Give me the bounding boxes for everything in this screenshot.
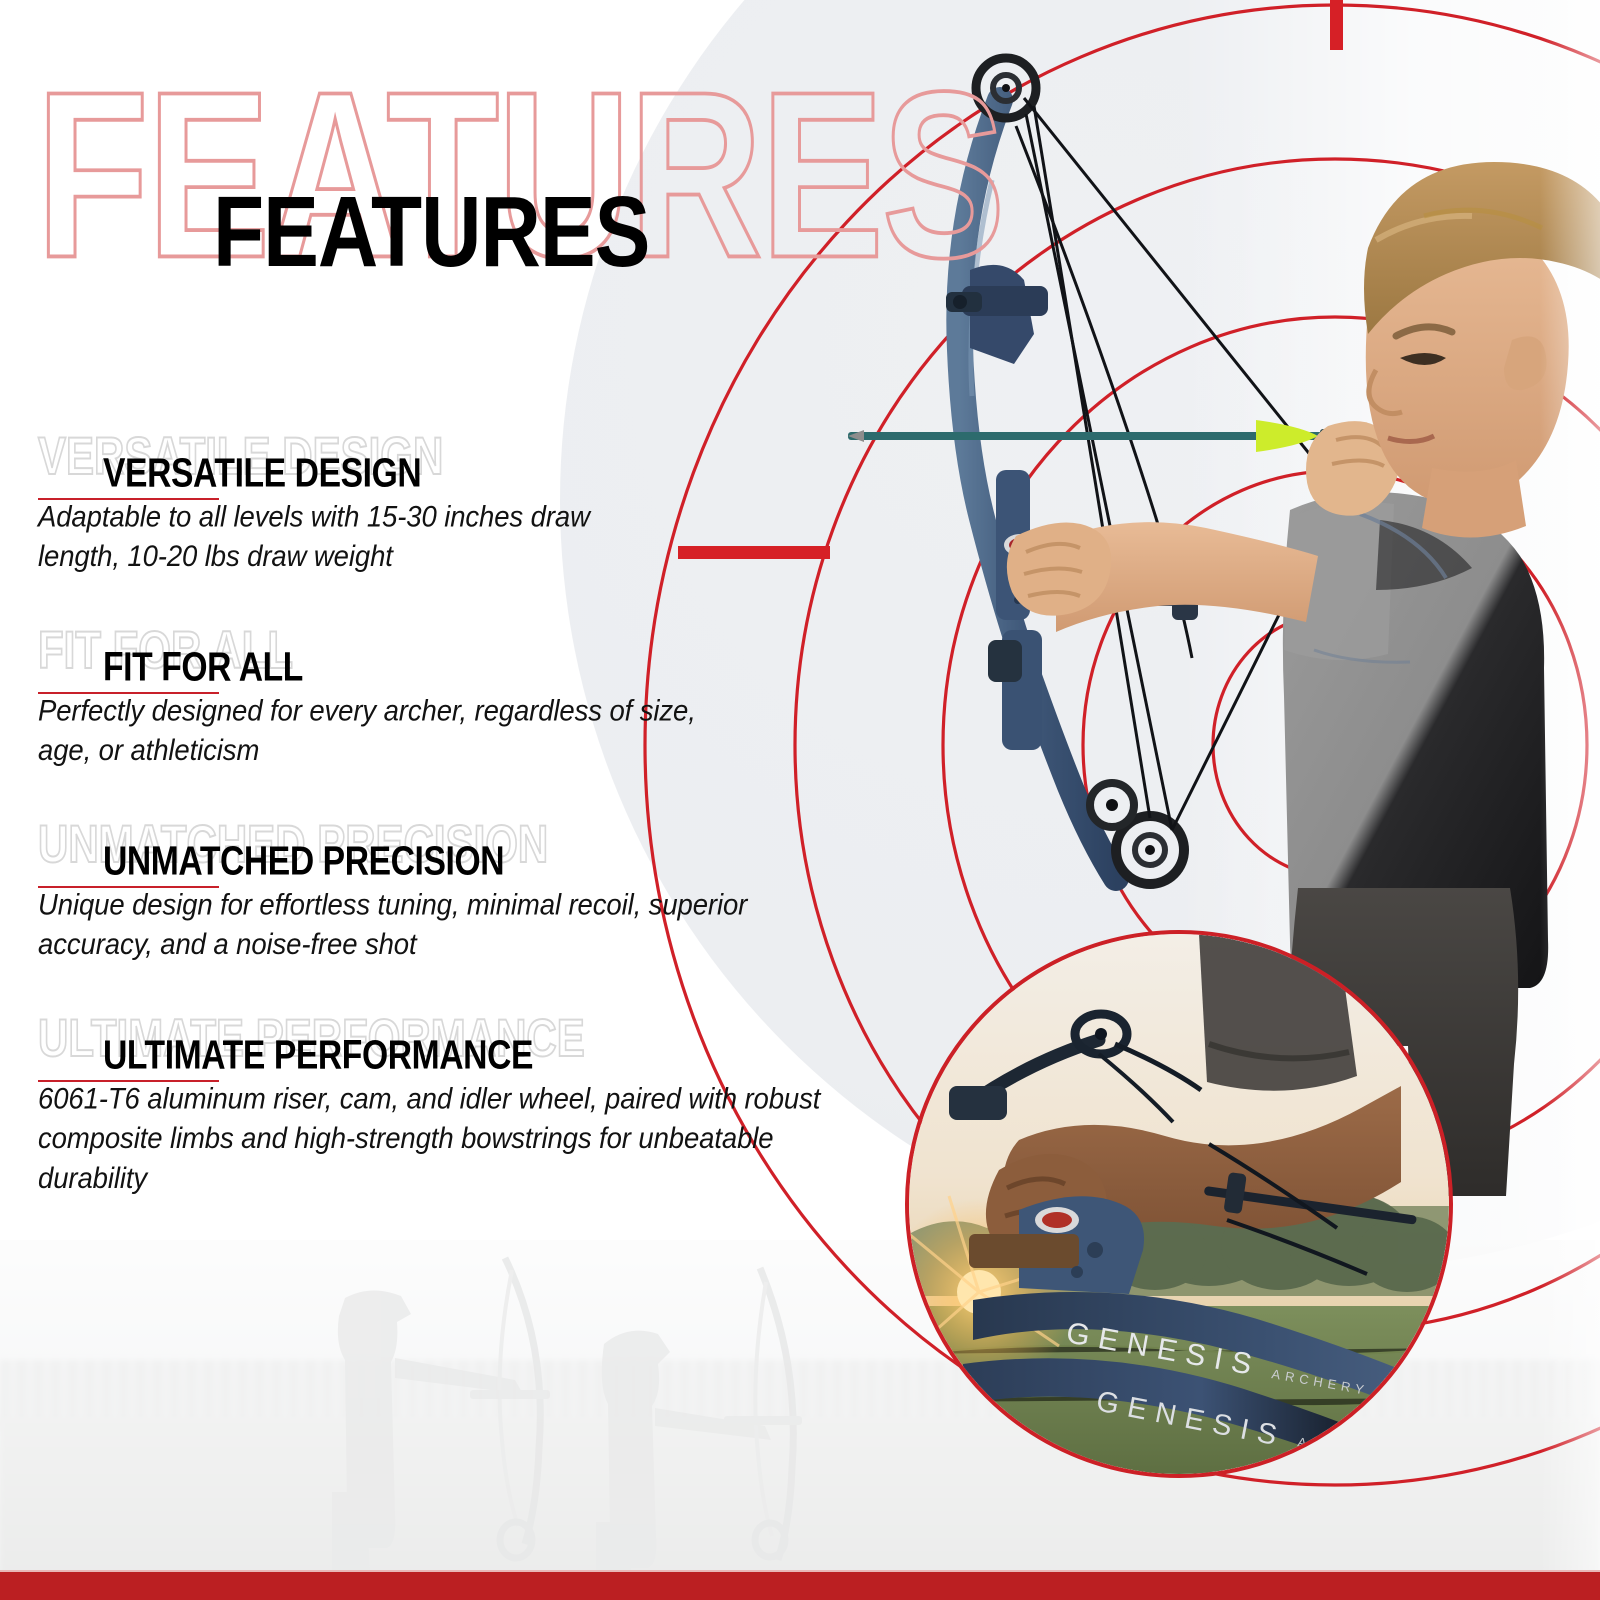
crosshair-tick-vertical [1330, 0, 1343, 50]
feature-title: ULTIMATE PERFORMANCE [103, 1034, 533, 1075]
inset-photo-bow-limbs: GENESIS ARCHERY GENESIS ARCHERY [905, 930, 1453, 1478]
feature-title: FIT FOR ALL [103, 646, 303, 687]
inset-photo-image: GENESIS ARCHERY GENESIS ARCHERY [909, 934, 1449, 1474]
feature-body: Perfectly designed for every archer, reg… [38, 691, 738, 770]
feature-item: FIT FOR ALL FIT FOR ALL Perfectly design… [0, 624, 900, 784]
page-header: FEATURES FEATURES [0, 0, 1100, 320]
infographic-canvas: GENESIS ARCHERY GENESIS ARCHERY [0, 0, 1600, 1600]
page-title: FEATURES [213, 183, 649, 283]
feature-item: ULTIMATE PERFORMANCE ULTIMATE PERFORMANC… [0, 1012, 900, 1212]
bottom-red-bar [0, 1572, 1600, 1600]
feature-title: UNMATCHED PRECISION [103, 840, 504, 881]
inset-illustration: GENESIS ARCHERY GENESIS ARCHERY [909, 934, 1449, 1474]
feature-title: VERSATILE DESIGN [103, 452, 421, 493]
feature-body: Adaptable to all levels with 15-30 inche… [38, 497, 678, 576]
right-edge-fade [1540, 0, 1600, 1600]
feature-item: VERSATILE DESIGN VERSATILE DESIGN Adapta… [0, 430, 900, 590]
feature-body: 6061-T6 aluminum riser, cam, and idler w… [38, 1079, 878, 1198]
feature-body: Unique design for effortless tuning, min… [38, 885, 798, 964]
feature-item: UNMATCHED PRECISION UNMATCHED PRECISION … [0, 818, 900, 978]
feature-list: VERSATILE DESIGN VERSATILE DESIGN Adapta… [0, 430, 900, 1246]
arrow [848, 420, 1368, 452]
